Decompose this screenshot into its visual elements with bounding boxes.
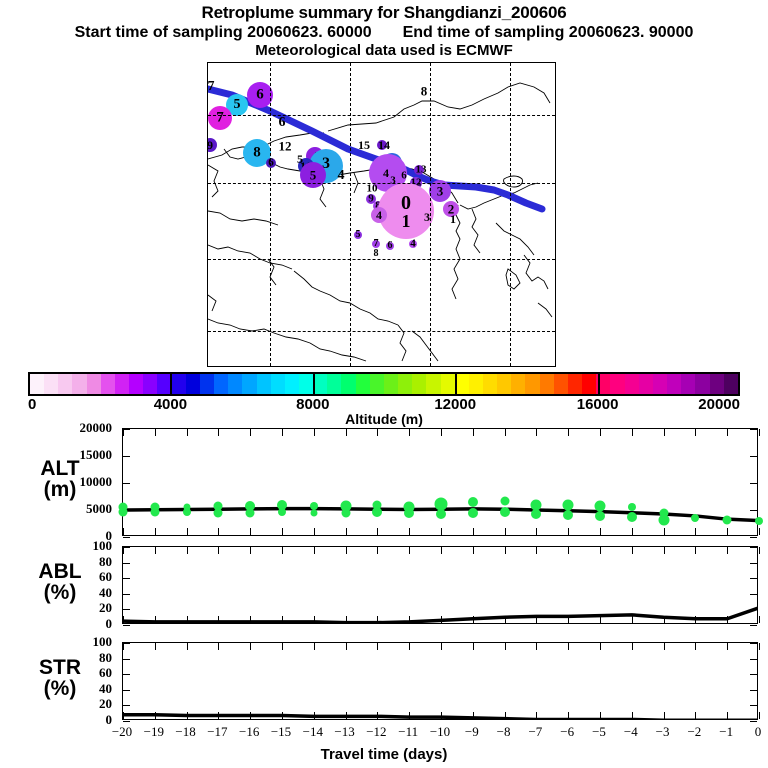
panel-str[interactable] [122, 642, 758, 720]
colorbar-segment [695, 374, 709, 394]
plume-blob-label: 4 [383, 167, 389, 179]
colorbar-segment [483, 374, 497, 394]
panel-label-str: STR(%) [6, 657, 114, 699]
x-tick-label: −16 [239, 724, 259, 740]
colorbar-segment [242, 374, 256, 394]
plume-blob-label: 7 [208, 80, 215, 94]
map-gridline-vertical-3 [510, 63, 511, 366]
map-gridline-horizontal-0 [208, 115, 555, 116]
colorbar-segment [101, 374, 115, 394]
plume-blob-label: 6 [256, 88, 264, 103]
colorbar-segment [582, 374, 596, 394]
scatter-marker [627, 512, 637, 522]
plume-blob-label: 7 [216, 111, 224, 126]
colorbar-segment [710, 374, 724, 394]
plume-blob-label: 8 [421, 85, 428, 98]
x-tick-label: −10 [430, 724, 450, 740]
colorbar-segment [271, 374, 285, 394]
panel-abl[interactable] [122, 546, 758, 624]
plume-blob-label: 1 [450, 213, 456, 225]
scatter-marker [755, 517, 763, 525]
x-tick [759, 712, 760, 719]
plume-blob-label: 8 [253, 146, 261, 161]
plot-data-abl [123, 547, 757, 623]
panel-name-line1: ABL [6, 561, 114, 582]
start-time-label: Start time of sampling 20060623. 60000 [75, 24, 372, 41]
colorbar-segment [58, 374, 72, 394]
colorbar-segment [667, 374, 681, 394]
plume-blob-label: 6 [401, 171, 407, 182]
colorbar-segment [681, 374, 695, 394]
panel-name-line2: (%) [6, 582, 114, 603]
colorbar-segment [129, 374, 143, 394]
colorbar-segment [511, 374, 525, 394]
colorbar-divider [455, 372, 457, 396]
scatter-marker [278, 508, 286, 516]
x-tick-top [759, 547, 760, 554]
y-tick-right [750, 721, 757, 722]
colorbar-segment [625, 374, 639, 394]
colorbar-segment [214, 374, 228, 394]
colorbar-segment [30, 374, 44, 394]
y-tick-right [750, 537, 757, 538]
colorbar-segment [554, 374, 568, 394]
sampling-time-line: Start time of sampling 20060623. 60000 E… [0, 23, 768, 42]
scatter-marker [119, 508, 128, 517]
plume-blob-label: 4 [338, 169, 345, 183]
plot-data-str [123, 643, 757, 719]
panel-label-alt: ALT(m) [6, 458, 114, 500]
colorbar-segment [72, 374, 86, 394]
x-tick-label: −12 [366, 724, 386, 740]
x-axis-title: Travel time (days) [0, 746, 768, 763]
x-tick [759, 528, 760, 535]
colorbar-divider [170, 372, 172, 396]
colorbar-segment [327, 374, 341, 394]
retroplume-summary-figure: Retroplume summary for Shangdianzi_20060… [0, 0, 768, 768]
map-inner: 6577698126431055415142436131210983014321… [208, 63, 555, 366]
page-title: Retroplume summary for Shangdianzi_20060… [0, 3, 768, 23]
map-panel[interactable]: 6577698126431055415142436131210983014321… [207, 62, 556, 367]
colorbar-segment [313, 374, 327, 394]
map-gridline-vertical-0 [270, 63, 271, 366]
colorbar-segment [228, 374, 242, 394]
map-gridline-vertical-1 [350, 63, 351, 366]
title-block: Retroplume summary for Shangdianzi_20060… [0, 0, 768, 60]
colorbar-segment [87, 374, 101, 394]
y-tick-right [750, 625, 757, 626]
y-tick [123, 721, 130, 722]
plume-blob-label: 6 [279, 116, 286, 130]
plume-blob-label: 12 [279, 140, 292, 153]
map-gridline-horizontal-1 [208, 183, 555, 184]
scatter-marker [436, 509, 446, 519]
map-gridline-horizontal-2 [208, 259, 555, 260]
panel-alt[interactable] [122, 428, 758, 536]
x-tick-label: −8 [497, 724, 511, 740]
plume-blob-label: 4 [376, 209, 382, 221]
colorbar-segment [115, 374, 129, 394]
panel-label-abl: ABL(%) [6, 561, 114, 603]
met-data-label: Meteorological data used is ECMWF [0, 42, 768, 60]
scatter-marker [468, 497, 478, 507]
x-tick-label: −14 [303, 724, 323, 740]
scatter-marker [595, 511, 605, 521]
colorbar-segment [186, 374, 200, 394]
x-tick-label: −13 [334, 724, 354, 740]
x-tick-label: −1 [719, 724, 733, 740]
x-tick-label: −9 [465, 724, 479, 740]
x-tick-label: −6 [560, 724, 574, 740]
colorbar-segment [172, 374, 186, 394]
y-tick-label: 100 [93, 634, 119, 650]
scatter-marker [150, 508, 159, 517]
x-tick-label: −2 [687, 724, 701, 740]
scatter-marker [531, 509, 541, 519]
colorbar-segment [441, 374, 455, 394]
panel-name-line1: ALT [6, 458, 114, 479]
scatter-marker [723, 516, 732, 525]
x-tick-label: −17 [207, 724, 227, 740]
colorbar-segment [724, 374, 738, 394]
x-tick-top [759, 643, 760, 650]
colorbar-segment [497, 374, 511, 394]
colorbar-segment [341, 374, 355, 394]
colorbar-divider [313, 372, 315, 396]
x-tick-label: −18 [175, 724, 195, 740]
colorbar-segment [525, 374, 539, 394]
plume-blob-label: 3 [437, 185, 444, 198]
plume-blob-label: 13 [416, 165, 427, 176]
x-tick-label: 0 [755, 724, 762, 740]
colorbar-segment [426, 374, 440, 394]
scatter-marker [500, 507, 510, 517]
colorbar-segment [285, 374, 299, 394]
colorbar-segment [384, 374, 398, 394]
x-tick-label: −4 [624, 724, 638, 740]
scatter-marker [628, 503, 636, 511]
x-tick [759, 616, 760, 623]
x-tick-label: −11 [398, 724, 418, 740]
scatter-marker [214, 508, 223, 517]
x-tick-label: −15 [271, 724, 291, 740]
plume-blob-label: 14 [378, 139, 390, 151]
x-axis-tick-labels: −20−19−18−17−16−15−14−13−12−11−10−9−8−7−… [0, 724, 768, 744]
colorbar-segment [568, 374, 582, 394]
plume-blob-label: 6 [388, 241, 393, 251]
plume-blob-label: 4 [410, 239, 416, 250]
x-tick-label: −5 [592, 724, 606, 740]
plume-blob-label: 1 [402, 212, 411, 230]
trend-line [123, 715, 757, 719]
colorbar-segment [200, 374, 214, 394]
map-gridline-horizontal-3 [208, 331, 555, 332]
colorbar-segment [299, 374, 313, 394]
colorbar-segment [412, 374, 426, 394]
colorbar-segment [370, 374, 384, 394]
colorbar-segment [469, 374, 483, 394]
scatter-marker [341, 508, 350, 517]
scatter-marker [563, 510, 573, 520]
colorbar-segment [610, 374, 624, 394]
colorbar-segment [257, 374, 271, 394]
trend-line [123, 608, 757, 623]
x-tick-label: −20 [112, 724, 132, 740]
colorbar-segment [44, 374, 58, 394]
y-tick-label: 0 [106, 616, 119, 632]
plume-blob-label: 5 [356, 230, 361, 240]
y-tick-label: 20000 [80, 420, 119, 436]
y-tick-label: 100 [93, 538, 119, 554]
colorbar-segment [143, 374, 157, 394]
colorbar-segment [639, 374, 653, 394]
plume-blob-label: 8 [374, 249, 379, 259]
scatter-marker [404, 508, 414, 518]
scatter-marker [310, 510, 317, 517]
panel-name-line2: (%) [6, 678, 114, 699]
scatter-marker [468, 508, 478, 518]
x-tick-top [759, 429, 760, 436]
y-tick-label: 5000 [86, 501, 118, 517]
scatter-marker [183, 508, 191, 516]
y-tick [123, 625, 130, 626]
x-tick-label: −3 [656, 724, 670, 740]
end-time-label: End time of sampling 20060623. 90000 [403, 24, 694, 41]
colorbar-segment [540, 374, 554, 394]
plume-blob-label: 9 [207, 139, 213, 151]
x-tick-label: −7 [528, 724, 542, 740]
y-tick [123, 537, 130, 538]
scatter-marker [500, 497, 509, 506]
scatter-marker [691, 514, 699, 522]
colorbar-segment [653, 374, 667, 394]
map-gridline-vertical-2 [430, 63, 431, 366]
panel-name-line1: STR [6, 657, 114, 678]
altitude-colorbar[interactable] [28, 372, 740, 396]
plume-blob-label: 5 [297, 153, 303, 165]
plume-blob-label: 15 [358, 139, 370, 151]
x-tick-label: −19 [144, 724, 164, 740]
plume-blob-label: 0 [401, 193, 411, 213]
scatter-marker [658, 514, 669, 525]
plume-blob-label: 5 [234, 98, 241, 112]
scatter-marker [246, 508, 255, 517]
colorbar-divider [598, 372, 600, 396]
panel-name-line2: (m) [6, 479, 114, 500]
plume-blob-label: 5 [310, 169, 317, 182]
colorbar-segment [398, 374, 412, 394]
scatter-marker [372, 507, 382, 517]
colorbar-segment [356, 374, 370, 394]
